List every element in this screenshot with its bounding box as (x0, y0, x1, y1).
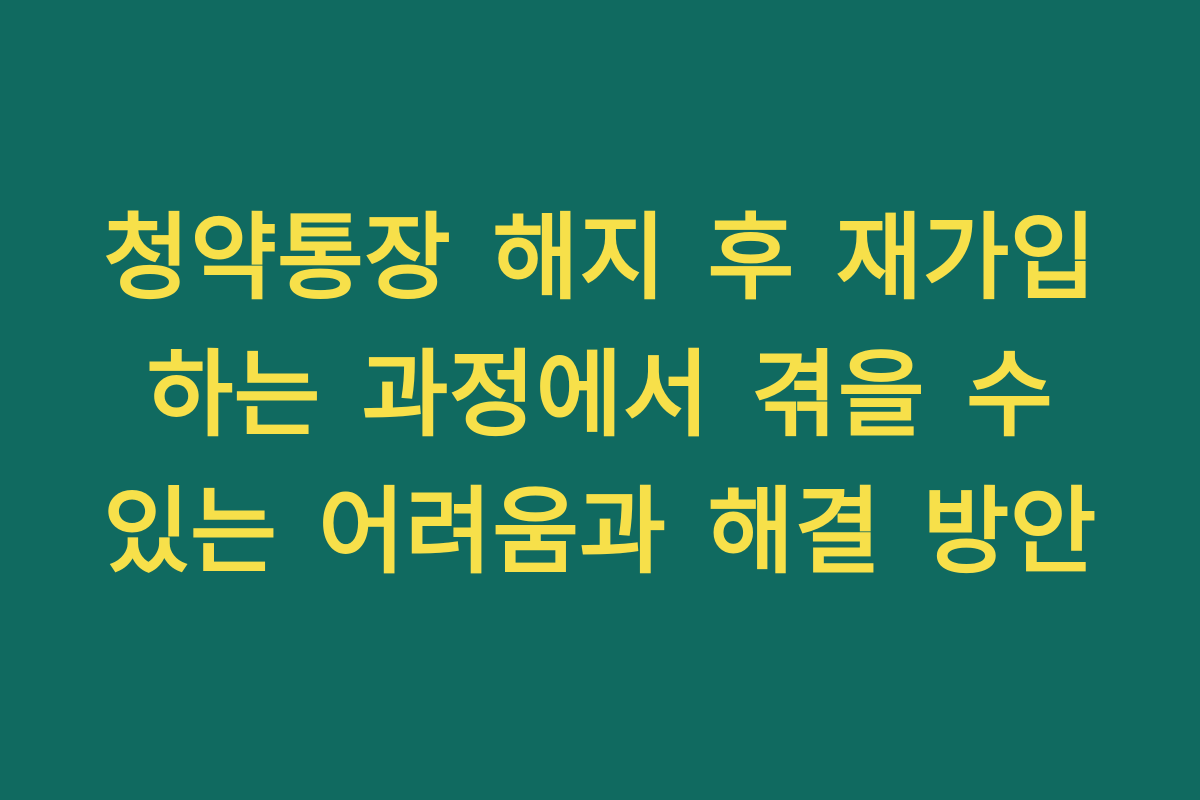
title-line-3: 있는 어려움과 해결 방안 (70, 464, 1130, 601)
title-text-block: 청약통장 해지 후 재가입 하는 과정에서 겪을 수 있는 어려움과 해결 방안 (70, 190, 1130, 601)
title-line-1: 청약통장 해지 후 재가입 (70, 190, 1130, 327)
thumbnail-card: 청약통장 해지 후 재가입 하는 과정에서 겪을 수 있는 어려움과 해결 방안 (0, 0, 1200, 800)
title-line-2: 하는 과정에서 겪을 수 (70, 327, 1130, 464)
